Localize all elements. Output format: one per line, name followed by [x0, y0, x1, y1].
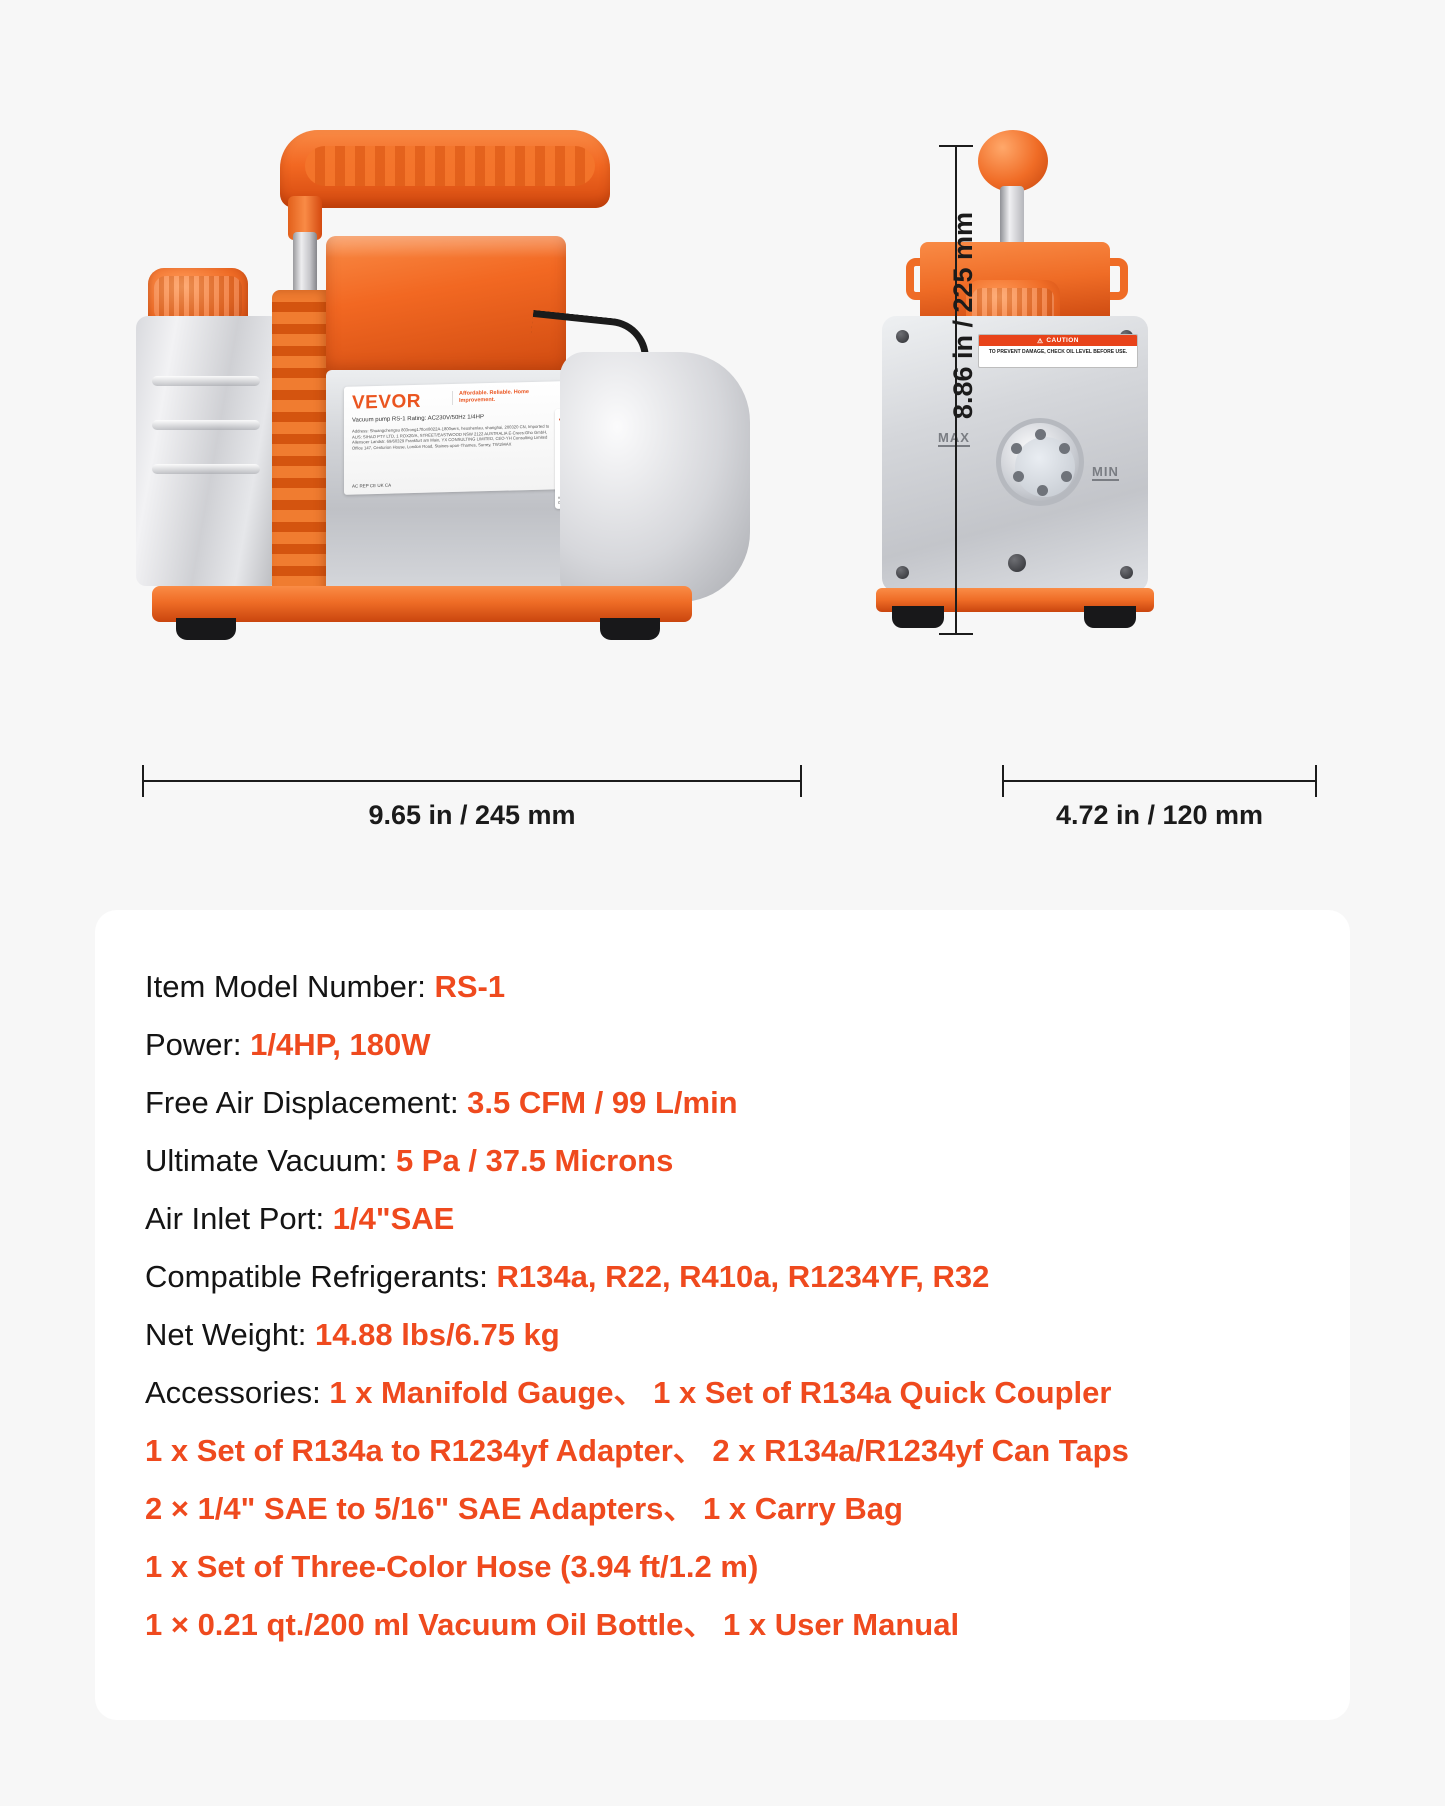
caution-body-text: TO PREVENT DAMAGE, CHECK OIL LEVEL BEFOR…	[979, 346, 1137, 356]
spec-key: Air Inlet Port:	[145, 1201, 333, 1236]
spec-key: Accessories:	[145, 1375, 329, 1410]
reservoir-rib	[152, 420, 260, 430]
spec-key: Ultimate Vacuum:	[145, 1143, 396, 1178]
sight-glass-dot	[1037, 485, 1048, 496]
oil-drain-plug	[1008, 554, 1026, 572]
caution-title-bar: ⚠ CAUTION	[979, 335, 1137, 346]
certification-marks: AC REP CE UK CA	[352, 483, 391, 489]
spec-value: 14.88 lbs/6.75 kg	[315, 1317, 560, 1352]
label-rating-line: Vacuum pump RS-1 Rating: AC230V/50Hz 1/4…	[352, 412, 558, 423]
rubber-foot	[600, 618, 660, 640]
min-label: MIN	[1092, 464, 1119, 481]
cooling-fins	[272, 290, 330, 602]
rubber-foot	[1084, 606, 1136, 628]
vacuum-pump-front-view: ⚠ CAUTION TO PREVENT DAMAGE, CHECK OIL L…	[870, 130, 1170, 640]
housing-screw	[896, 566, 909, 579]
spec-value: 1/4HP, 180W	[250, 1027, 430, 1062]
sight-glass-dot	[1011, 443, 1022, 454]
sight-glass-dot	[1061, 471, 1072, 482]
product-spec-label: VEVOR Affordable. Reliable. Home Improve…	[344, 381, 564, 495]
spec-row: Ultimate Vacuum: 5 Pa / 37.5 Microns	[145, 1132, 1300, 1190]
motor-housing	[560, 352, 750, 602]
housing-screw	[896, 330, 909, 343]
oil-sight-glass	[996, 418, 1084, 506]
spec-row: Compatible Refrigerants: R134a, R22, R41…	[145, 1248, 1300, 1306]
width-dimension-line-right	[1002, 780, 1317, 782]
spec-key: Free Air Displacement:	[145, 1085, 467, 1120]
spec-value: 1/4"SAE	[333, 1201, 455, 1236]
brand-name: VEVOR	[352, 391, 421, 415]
width-dimension-label-right: 4.72 in / 120 mm	[1002, 800, 1317, 831]
vacuum-pump-side-view: VEVOR Affordable. Reliable. Home Improve…	[130, 120, 810, 660]
handle-knob	[978, 130, 1048, 192]
spec-value: 3.5 CFM / 99 L/min	[467, 1085, 737, 1120]
oil-level-max-marker: MAX	[938, 430, 970, 445]
spec-row-accessories: Accessories: 1 x Manifold Gauge、 1 x Set…	[145, 1364, 1300, 1422]
caution-label: ⚠ CAUTION TO PREVENT DAMAGE, CHECK OIL L…	[978, 334, 1138, 368]
rubber-foot	[892, 606, 944, 628]
spec-row: Free Air Displacement: 3.5 CFM / 99 L/mi…	[145, 1074, 1300, 1132]
spec-key: Net Weight:	[145, 1317, 315, 1352]
oil-reservoir	[136, 316, 276, 586]
width-dimension-line-left	[142, 780, 802, 782]
housing-screw	[1120, 566, 1133, 579]
spec-row: Net Weight: 14.88 lbs/6.75 kg	[145, 1306, 1300, 1364]
warning-triangle-icon: ⚠	[1037, 337, 1043, 345]
specification-list: Item Model Number: RS-1 Power: 1/4HP, 18…	[95, 910, 1350, 1654]
spec-row: Item Model Number: RS-1	[145, 958, 1300, 1016]
label-fine-print: Address: Shuangchengsu 803rong17flor/802…	[352, 423, 558, 451]
reservoir-rib	[152, 376, 260, 386]
accessory-line: 2 × 1/4" SAE to 5/16" SAE Adapters、 1 x …	[145, 1480, 1300, 1538]
spec-value: 1 x Manifold Gauge、 1 x Set of R134a Qui…	[329, 1375, 1111, 1410]
specification-card: Item Model Number: RS-1 Power: 1/4HP, 18…	[95, 910, 1350, 1720]
accessory-line: 1 x Set of Three-Color Hose (3.94 ft/1.2…	[145, 1538, 1300, 1596]
max-label: MAX	[938, 430, 970, 447]
sight-glass-dot	[1059, 443, 1070, 454]
spec-row: Air Inlet Port: 1/4"SAE	[145, 1190, 1300, 1248]
caution-title: CAUTION	[1046, 337, 1078, 344]
handle-grip-ridges	[305, 146, 595, 186]
sight-glass-dot	[1013, 471, 1024, 482]
reservoir-rib	[152, 464, 260, 474]
rubber-foot	[176, 618, 236, 640]
oil-level-min-marker: MIN	[1092, 464, 1119, 479]
product-spec-page: VEVOR Affordable. Reliable. Home Improve…	[0, 0, 1445, 1806]
spec-key: Compatible Refrigerants:	[145, 1259, 497, 1294]
spec-key: Item Model Number:	[145, 969, 434, 1004]
product-image-area: VEVOR Affordable. Reliable. Home Improve…	[0, 0, 1445, 900]
accessory-line: 1 x Set of R134a to R1234yf Adapter、 2 x…	[145, 1422, 1300, 1480]
spec-value: R134a, R22, R410a, R1234YF, R32	[497, 1259, 990, 1294]
spec-key: Power:	[145, 1027, 250, 1062]
accessory-line: 1 × 0.21 qt./200 ml Vacuum Oil Bottle、 1…	[145, 1596, 1300, 1654]
spec-value: RS-1	[434, 969, 505, 1004]
spec-value: 5 Pa / 37.5 Microns	[396, 1143, 673, 1178]
height-dimension-label: 8.86 in / 225 mm	[948, 212, 979, 419]
width-dimension-label-left: 9.65 in / 245 mm	[142, 800, 802, 831]
brand-tagline: Affordable. Reliable. Home Improvement.	[452, 388, 564, 405]
sight-glass-dot	[1035, 429, 1046, 440]
spec-row: Power: 1/4HP, 180W	[145, 1016, 1300, 1074]
base-plate	[152, 586, 692, 622]
